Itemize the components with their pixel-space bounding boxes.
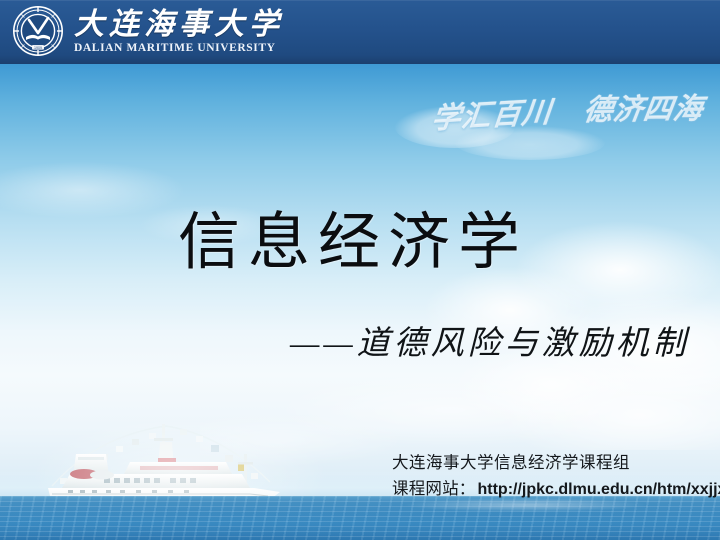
course-site-url[interactable]: http://jpkc.dlmu.edu.cn/htm/xxjjx/ xyxy=(478,479,720,501)
slide-title: 信息经济学 xyxy=(178,207,528,280)
university-motto-watermark: 学汇百川 德济四海 xyxy=(431,79,705,141)
university-wordmark: 大连海事大学 DALIAN MARITIME UNIVERSITY xyxy=(74,8,284,55)
course-site-label: 课程网站： xyxy=(392,478,476,500)
svg-text:1909: 1909 xyxy=(34,46,42,50)
course-site-line: 课程网站： http://jpkc.dlmu.edu.cn/htm/xxjjx/ xyxy=(392,478,720,501)
sea-background xyxy=(0,496,720,540)
university-name-cn: 大连海事大学 xyxy=(74,10,284,40)
title-slide: 1909 大连海事大学 DALIAN MARITIME UNIVERSITY 学… xyxy=(0,0,720,540)
course-group-line: 大连海事大学信息经济学课程组 xyxy=(392,452,720,474)
motto-part-2: 德济四海 xyxy=(581,85,707,129)
university-branding: 1909 大连海事大学 DALIAN MARITIME UNIVERSITY xyxy=(12,5,284,57)
university-header-bar: 1909 大连海事大学 DALIAN MARITIME UNIVERSITY xyxy=(0,0,720,64)
credits-block: 大连海事大学信息经济学课程组 课程网站： http://jpkc.dlmu.ed… xyxy=(392,452,720,501)
university-seal-icon: 1909 xyxy=(12,5,64,57)
motto-part-1: 学汇百川 xyxy=(430,88,554,137)
university-name-en: DALIAN MARITIME UNIVERSITY xyxy=(74,43,284,55)
slide-subtitle: ——道德风险与激励机制 xyxy=(290,316,690,364)
